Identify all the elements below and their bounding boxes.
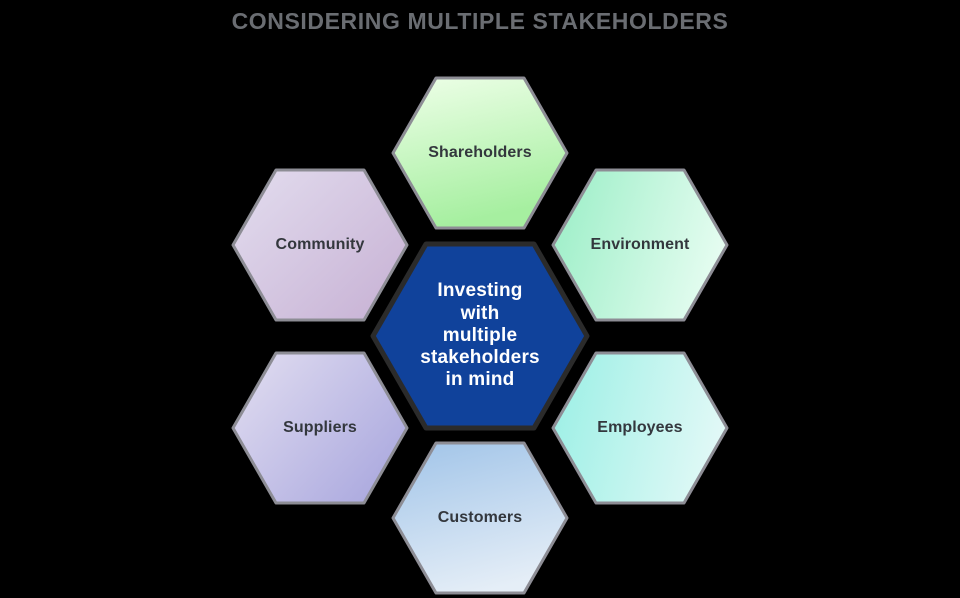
hexagon-center-investing[interactable]: Investing with multiple stakeholders in … (370, 241, 590, 431)
stakeholder-hexagon-diagram: Shareholders Environment (0, 0, 960, 598)
hexagon-shareholders[interactable]: Shareholders (391, 76, 569, 230)
hexagon-customers[interactable]: Customers (391, 441, 569, 595)
diagram-canvas: CONSIDERING MULTIPLE STAKEHOLDERS Shareh… (0, 0, 960, 598)
